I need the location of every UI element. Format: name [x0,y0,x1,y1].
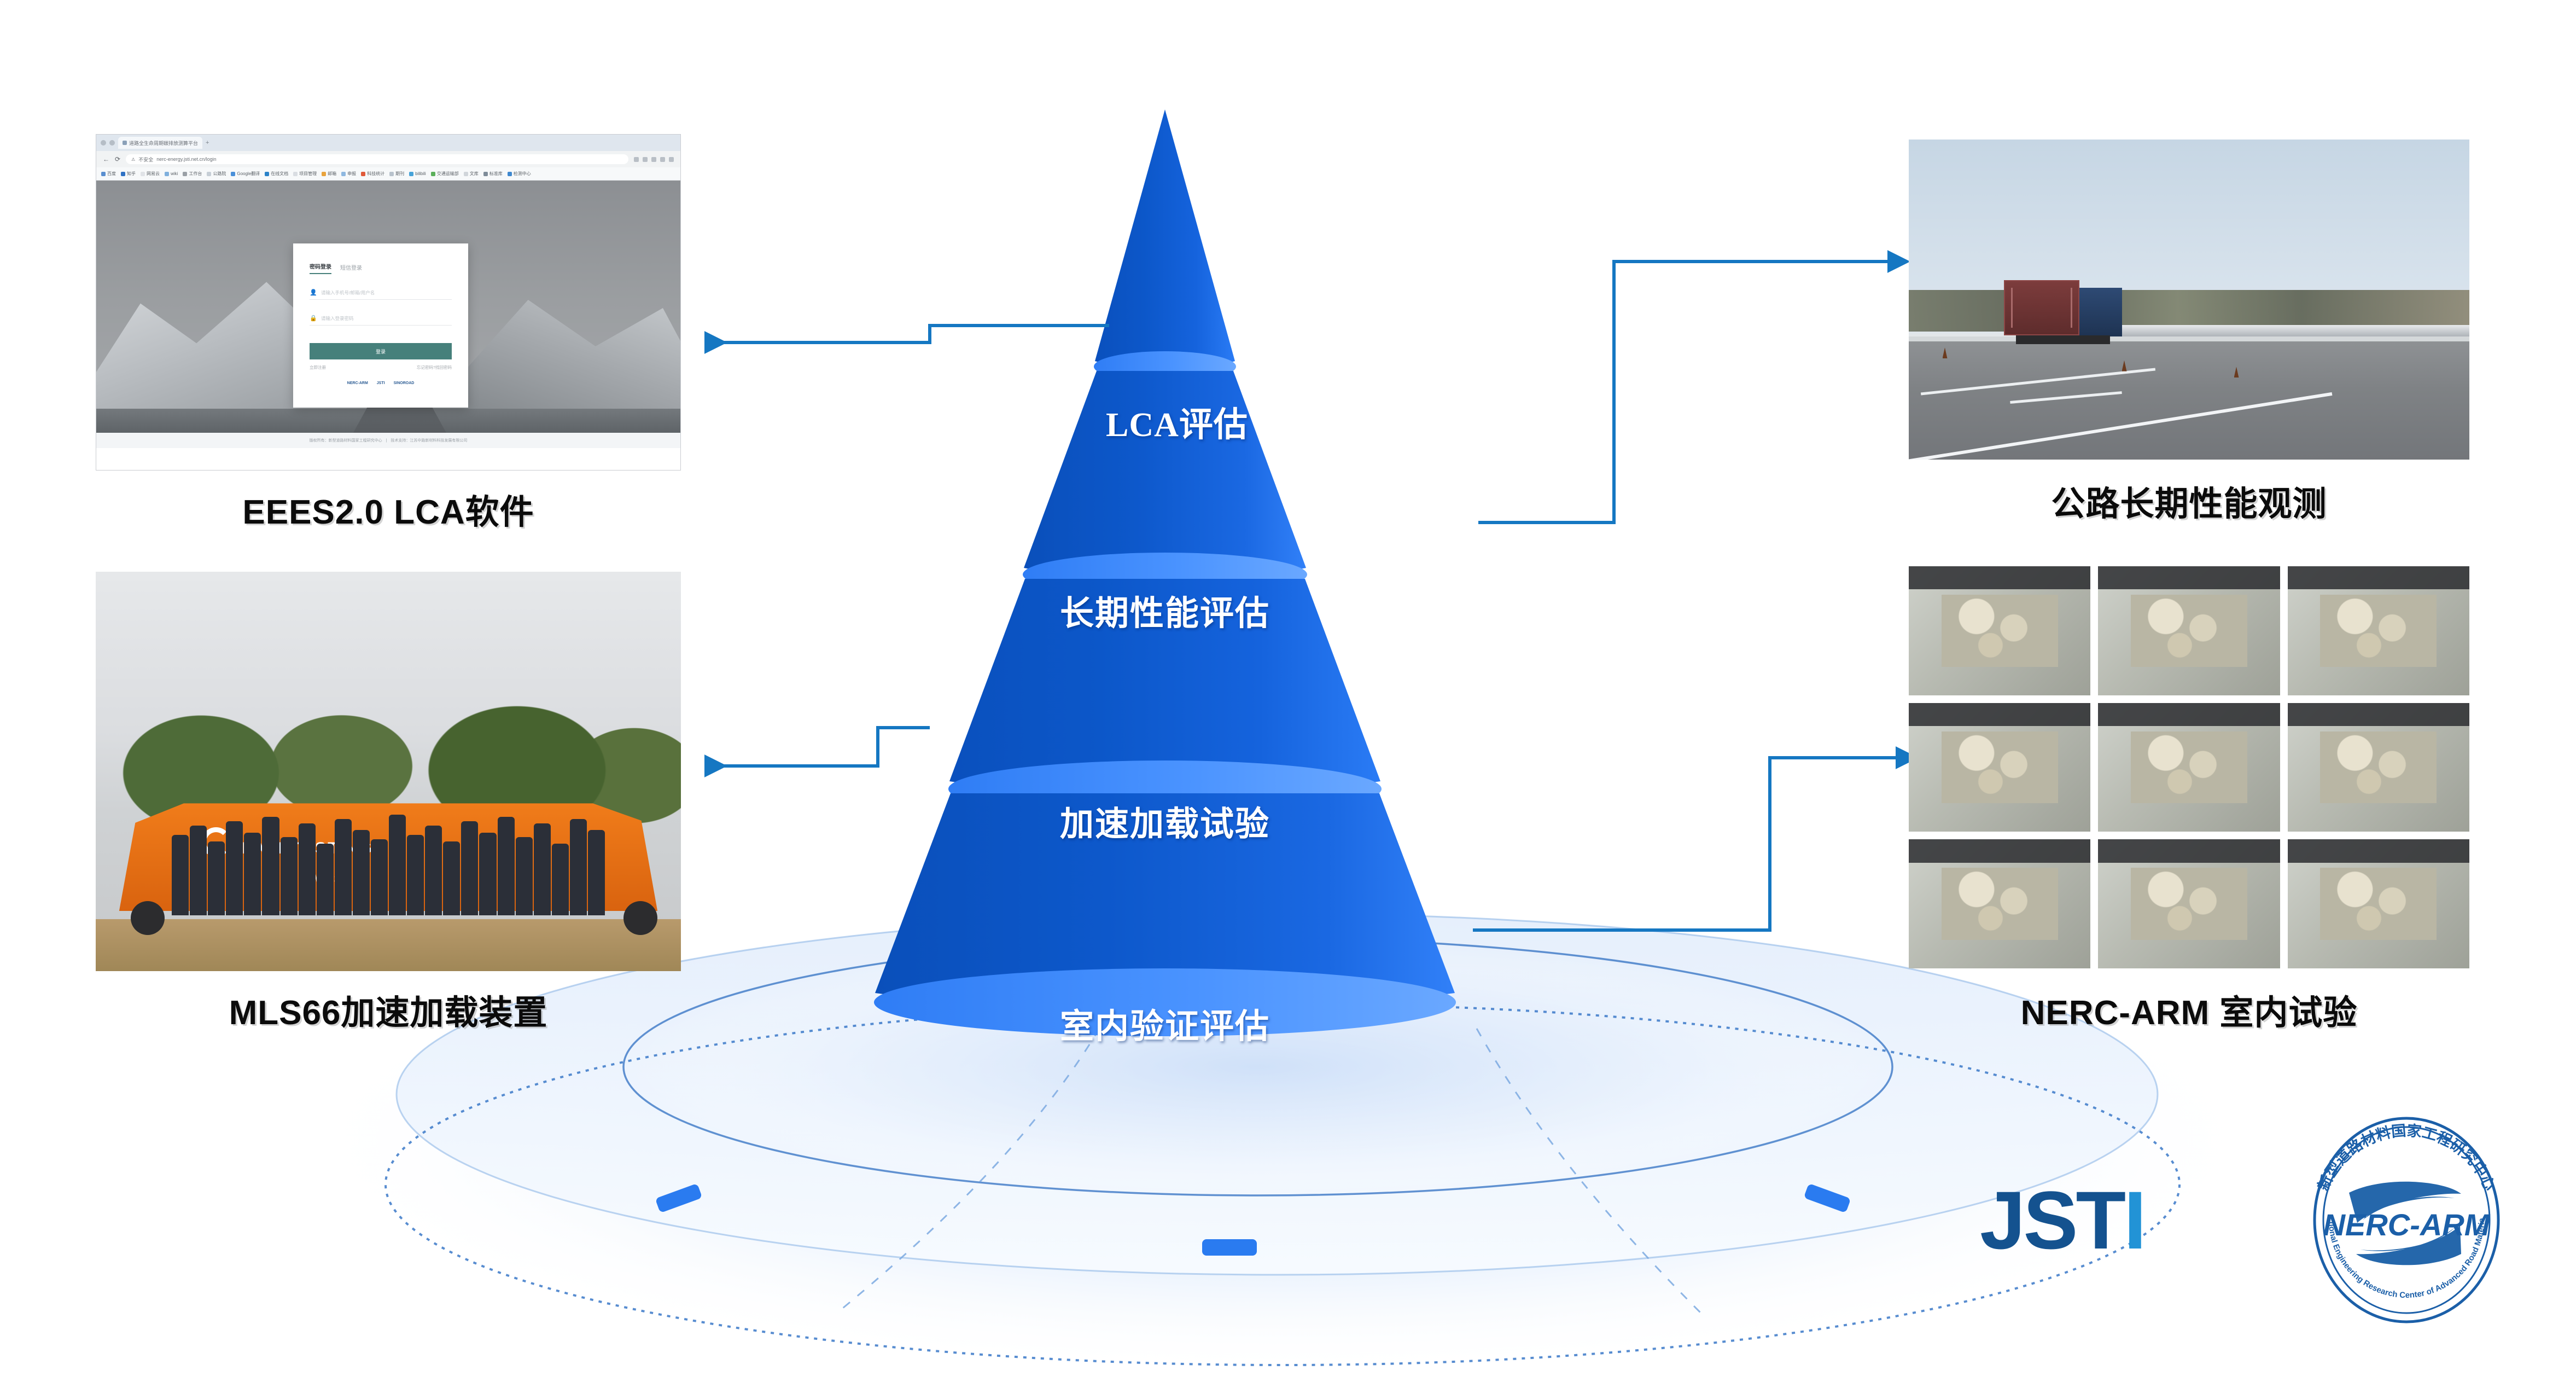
bookmark-item[interactable]: 项目管理 [293,171,317,177]
photo-asphalt [1909,341,2469,460]
person-silhouette [443,841,460,915]
bookmark-item[interactable]: 知乎 [121,171,136,177]
bookmark-item[interactable]: 公路院 [207,171,226,177]
bookmark-favicon-icon [389,172,394,176]
tab-list-icon [109,140,115,146]
favicon-icon [123,141,127,145]
jsti-logo: JSTI [1980,1179,2144,1261]
lab-test-photo [1909,703,2090,832]
login-links[interactable]: 立即注册 忘记密码?找回密码 [310,364,452,370]
group-photo-people [172,803,605,915]
bookmark-star-icon[interactable] [643,157,648,162]
person-silhouette [461,821,478,915]
caption-highway-observation: 公路长期性能观测 [1909,476,2469,525]
lab-test-photo [2288,566,2469,695]
login-tabs[interactable]: 密码登录 短信登录 [310,262,452,274]
lab-test-photo [2288,703,2469,832]
bookmarks-bar[interactable]: 百度知乎网易云wiki工作台公路院Google翻译在线文档项目管理邮箱申报科技统… [96,167,680,181]
lab-test-photo [1909,566,2090,695]
download-icon[interactable] [651,157,656,162]
person-silhouette [335,819,352,915]
bookmark-label: 项目管理 [299,171,317,177]
bookmark-item[interactable]: 邮箱 [322,171,336,177]
photo-grid-lab-tests [1909,566,2469,968]
truck-wheels [2016,335,2110,344]
browser-tabbar: 道路全生命周期碳排放测算平台 + [96,135,680,151]
photo-guardrail [2100,325,2470,336]
bookmark-label: Google翻译 [237,171,260,177]
person-silhouette [516,837,533,915]
person-silhouette [389,815,406,915]
lab-test-photo [2098,703,2280,832]
menu-kebab-icon[interactable] [669,157,674,162]
security-label: 不安全 [138,156,153,163]
person-silhouette [353,830,370,915]
bookmark-favicon-icon [409,172,413,176]
address-bar[interactable]: ⚠ 不安全 nerc-energy.jsti.net.cn/login [126,154,628,164]
bookmark-item[interactable]: 文库 [464,171,479,177]
bookmark-label: 公路院 [213,171,226,177]
bookmark-label: 科技统计 [367,171,384,177]
bookmark-label: 期刊 [395,171,404,177]
username-field[interactable]: 👤 请输入手机号/邮箱/用户名 [310,289,452,300]
partner-logo: SINOROAD [394,381,415,385]
register-link[interactable]: 立即注册 [310,364,326,370]
bookmark-item[interactable]: 工作台 [183,171,202,177]
photo-truck [2004,280,2122,344]
photo-ground [96,919,681,971]
tab-password-login[interactable]: 密码登录 [310,262,331,274]
forgot-password-link[interactable]: 忘记密码?找回密码 [417,364,452,370]
lab-test-photo [2098,839,2280,968]
bookmark-favicon-icon [483,172,488,176]
person-silhouette [299,823,316,915]
person-silhouette [281,837,298,915]
lab-test-photo [2288,839,2469,968]
bookmark-item[interactable]: 百度 [101,171,116,177]
person-silhouette [552,844,569,915]
partner-logo: NERC-ARM [347,381,368,385]
login-partner-logos: NERC-ARMJSTISINOROAD [310,381,452,385]
bookmark-favicon-icon [141,172,145,176]
bookmark-favicon-icon [322,172,326,176]
person-silhouette [317,844,334,915]
login-card: 道路全生命周期碳排放测算平台 为道路基础设施低碳建设下提供核算方法、技术方案推送… [293,243,468,408]
browser-toolbar-icons[interactable] [634,157,674,162]
bookmark-label: bilibili [415,171,426,176]
bookmark-label: 知乎 [127,171,136,177]
reload-icon[interactable]: ⟳ [115,155,120,163]
bookmark-item[interactable]: 科技统计 [361,171,384,177]
caption-mls66-device: MLS66加速加载装置 [96,985,681,1034]
bookmark-favicon-icon [341,172,346,176]
bookmark-favicon-icon [293,172,298,176]
lab-test-photo [1909,839,2090,968]
person-silhouette [407,835,424,915]
browser-tab[interactable]: 道路全生命周期碳排放测算平台 [118,137,202,149]
bookmark-item[interactable]: 期刊 [389,171,404,177]
caption-nerc-arm-lab: NERC-ARM 室内试验 [1909,985,2469,1034]
extension-icon[interactable] [634,157,639,162]
bookmark-label: 标准库 [489,171,503,177]
photo-mls66-device: PAVETESTING Pave MLS [96,572,681,971]
window-control-icon [101,140,106,146]
bookmark-label: 检测中心 [514,171,531,177]
lab-test-photo [2098,566,2280,695]
new-tab-button[interactable]: + [206,140,209,146]
bookmark-item[interactable]: wiki [165,171,178,176]
page-viewport: 道路全生命周期碳排放测算平台 为道路基础设施低碳建设下提供核算方法、技术方案推送… [96,181,680,448]
browser-tab-title: 道路全生命周期碳排放测算平台 [129,140,198,147]
person-silhouette [208,841,225,915]
password-placeholder: 请输入登录密码 [321,315,354,322]
tab-sms-login[interactable]: 短信登录 [340,263,362,274]
bookmark-favicon-icon [231,172,235,176]
address-bar-url: nerc-energy.jsti.net.cn/login [156,156,216,162]
browser-screenshot-panel[interactable]: 道路全生命周期碳排放测算平台 + ← ⟳ ⚠ 不安全 nerc-energy.j… [96,134,681,471]
username-placeholder: 请输入手机号/邮箱/用户名 [321,289,375,296]
person-silhouette [226,821,243,915]
bookmark-item[interactable]: 检测中心 [508,171,531,177]
person-silhouette [190,826,207,915]
bookmark-label: 网易云 [147,171,160,177]
person-silhouette [371,839,388,915]
person-silhouette [262,817,279,915]
truck-cargo-box [2004,280,2079,335]
photo-highway-observation [1909,140,2469,460]
bookmark-favicon-icon [508,172,512,176]
bookmark-label: 百度 [107,171,116,177]
bookmark-label: 交通运输部 [437,171,459,177]
user-icon: 👤 [310,289,316,296]
bookmark-favicon-icon [165,172,169,176]
page-footer: 版权所有：新型道路材料国家工程研究中心 | 技术支持：江苏中路新材料科技发展有限… [96,433,680,448]
nerc-arm-abbr: NERC-ARM [2323,1207,2491,1242]
back-icon[interactable]: ← [103,155,109,163]
bookmark-item[interactable]: bilibili [409,171,426,176]
jsti-logo-accent: I [2124,1174,2144,1266]
bookmark-favicon-icon [431,172,435,176]
password-field[interactable]: 🔒 请输入登录密码 [310,315,452,326]
person-silhouette [570,819,587,915]
jsti-logo-text: JST [1980,1174,2124,1266]
login-submit-button[interactable]: 登录 [310,343,452,359]
lock-icon: 🔒 [310,315,316,322]
bookmark-label: 邮箱 [328,171,336,177]
nerc-arm-logo: NERC-ARM 新型道路材料国家工程研究中心 National Enginee… [2297,1111,2516,1329]
bookmark-item[interactable]: 申报 [341,171,356,177]
caption-eees-software: EEES2.0 LCA软件 [96,484,681,533]
bookmark-favicon-icon [361,172,365,176]
bookmark-favicon-icon [121,172,125,176]
bookmark-favicon-icon [265,172,269,176]
person-silhouette [172,835,189,915]
person-silhouette [479,833,496,915]
bookmark-item[interactable]: 交通运输部 [431,171,459,177]
person-silhouette [425,826,442,915]
bookmark-favicon-icon [101,172,106,176]
person-silhouette [588,830,605,915]
bookmark-label: 工作台 [189,171,202,177]
bookmark-label: 申报 [347,171,356,177]
bookmark-item[interactable]: 在线文档 [265,171,288,177]
login-form: 密码登录 短信登录 👤 请输入手机号/邮箱/用户名 🔒 请输入登录密码 登录 立… [293,243,468,408]
person-silhouette [244,833,261,915]
bookmark-favicon-icon [464,172,468,176]
truck-cab [2079,288,2122,336]
bookmark-label: 在线文档 [271,171,288,177]
bookmark-favicon-icon [183,172,187,176]
browser-urlbar: ← ⟳ ⚠ 不安全 nerc-energy.jsti.net.cn/login [96,151,680,167]
person-silhouette [498,817,515,915]
bookmark-item[interactable]: 标准库 [483,171,503,177]
bookmark-favicon-icon [207,172,211,176]
bookmark-item[interactable]: 网易云 [141,171,160,177]
partner-logo: JSTI [377,381,385,385]
bookmark-label: wiki [171,171,178,176]
bookmark-label: 文库 [470,171,479,177]
profile-avatar-icon[interactable] [660,157,665,162]
bookmark-item[interactable]: Google翻译 [231,171,260,177]
warning-icon: ⚠ [131,157,135,162]
person-silhouette [534,823,551,915]
slide-canvas: LCA评估 长期性能评估 加速加载试验 室内验证评估 [0,0,2576,1382]
